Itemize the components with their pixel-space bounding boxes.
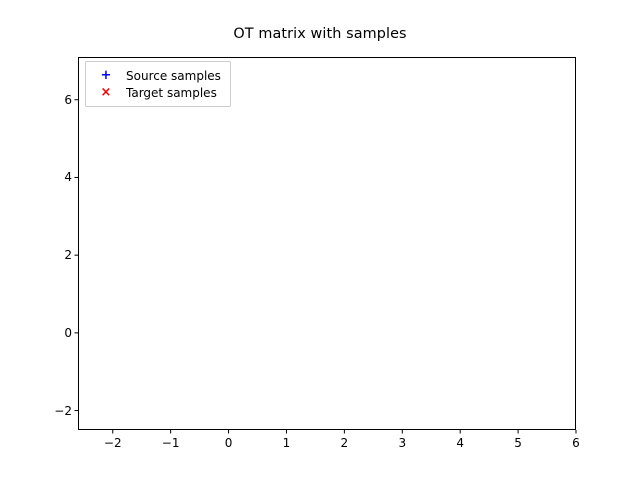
legend-label-target: Target samples [119, 86, 217, 100]
x-tick-label: 0 [225, 436, 233, 450]
x-tick-label: −1 [162, 436, 180, 450]
legend: + Source samples × Target samples [85, 61, 231, 107]
y-tick-label: 0 [64, 326, 72, 340]
y-tick-label: 2 [64, 248, 72, 262]
axes-frame [78, 57, 576, 430]
legend-item-source: + Source samples [93, 67, 221, 84]
x-tick-label: 1 [283, 436, 291, 450]
matplotlib-figure: OT matrix with samples −2−10123456−20246… [0, 0, 640, 480]
cross-marker-icon: × [93, 86, 119, 99]
y-tick-label: 4 [64, 170, 72, 184]
x-tick-label: −2 [104, 436, 122, 450]
legend-item-target: × Target samples [93, 84, 221, 101]
plus-marker-icon: + [93, 69, 119, 82]
x-tick-label: 4 [456, 436, 464, 450]
legend-label-source: Source samples [119, 69, 221, 83]
x-tick-label: 3 [398, 436, 406, 450]
y-tick-label: 6 [64, 93, 72, 107]
x-tick-label: 5 [514, 436, 522, 450]
x-tick-label: 2 [341, 436, 349, 450]
y-tick-label: −2 [54, 404, 72, 418]
x-tick-label: 6 [572, 436, 580, 450]
